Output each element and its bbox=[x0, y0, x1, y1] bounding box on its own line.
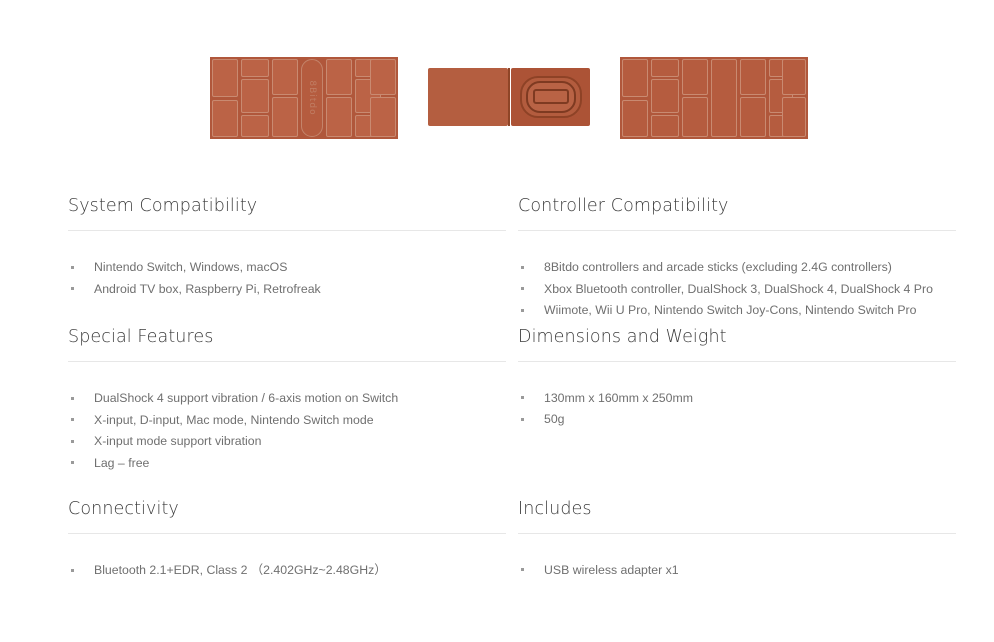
section-list: 8Bitdo controllers and arcade sticks (ex… bbox=[518, 231, 956, 322]
bullet-icon bbox=[71, 266, 74, 269]
section-special-features: Special Features DualShock 4 support vib… bbox=[68, 327, 506, 474]
bullet-icon bbox=[521, 418, 524, 421]
section-title: Connectivity bbox=[68, 499, 506, 534]
pad-key bbox=[272, 97, 298, 137]
pad-key bbox=[782, 59, 806, 95]
pad-key bbox=[241, 59, 269, 77]
list-item: X-input mode support vibration bbox=[68, 431, 506, 453]
list-item-text: X-input, D-input, Mac mode, Nintendo Swi… bbox=[94, 413, 374, 427]
bullet-icon bbox=[71, 440, 74, 443]
adapter-seam bbox=[508, 68, 510, 126]
list-item: Bluetooth 2.1+EDR, Class 2 （2.402GHz~2.4… bbox=[68, 560, 506, 582]
section-title: Controller Compatibility bbox=[518, 196, 956, 231]
list-item: USB wireless adapter x1 bbox=[518, 560, 956, 582]
bullet-icon bbox=[521, 266, 524, 269]
section-list: 130mm x 160mm x 250mm 50g bbox=[518, 362, 956, 431]
spec-column-left: System Compatibility Nintendo Switch, Wi… bbox=[68, 196, 506, 582]
pad-key bbox=[651, 115, 679, 137]
pad-key bbox=[241, 115, 269, 137]
pad-key bbox=[370, 97, 396, 137]
list-item: DualShock 4 support vibration / 6-axis m… bbox=[68, 388, 506, 410]
section-list: Bluetooth 2.1+EDR, Class 2 （2.402GHz~2.4… bbox=[68, 534, 506, 582]
section-list: USB wireless adapter x1 bbox=[518, 534, 956, 582]
section-title: Dimensions and Weight bbox=[518, 327, 956, 362]
list-item: 8Bitdo controllers and arcade sticks (ex… bbox=[518, 257, 956, 279]
pad-key bbox=[241, 79, 269, 113]
list-item-text: 8Bitdo controllers and arcade sticks (ex… bbox=[544, 260, 892, 274]
bullet-icon bbox=[521, 568, 524, 571]
list-item: Xbox Bluetooth controller, DualShock 3, … bbox=[518, 279, 956, 301]
list-item-text: Bluetooth 2.1+EDR, Class 2 （2.402GHz~2.4… bbox=[94, 563, 387, 577]
pad-key bbox=[682, 97, 708, 137]
list-item-text: Android TV box, Raspberry Pi, Retrofreak bbox=[94, 282, 321, 296]
usb-connector-slot bbox=[533, 89, 569, 104]
list-item: X-input, D-input, Mac mode, Nintendo Swi… bbox=[68, 410, 506, 432]
pad-key bbox=[212, 100, 238, 137]
section-title: Includes bbox=[518, 499, 956, 534]
section-controller-compatibility: Controller Compatibility 8Bitdo controll… bbox=[518, 196, 956, 322]
list-item-text: 50g bbox=[544, 412, 565, 426]
pad-key bbox=[651, 59, 679, 77]
bullet-icon bbox=[521, 309, 524, 312]
pad-key bbox=[326, 97, 352, 137]
pad-key bbox=[622, 100, 648, 137]
pad-key bbox=[326, 59, 352, 95]
list-item-text: USB wireless adapter x1 bbox=[544, 563, 679, 577]
spec-column-right: Controller Compatibility 8Bitdo controll… bbox=[518, 196, 956, 581]
pad-key bbox=[370, 59, 396, 95]
bullet-icon bbox=[71, 418, 74, 421]
bullet-icon bbox=[71, 569, 74, 572]
section-title: System Compatibility bbox=[68, 196, 506, 231]
list-item-text: Wiimote, Wii U Pro, Nintendo Switch Joy-… bbox=[544, 303, 916, 317]
list-item: Lag – free bbox=[68, 453, 506, 475]
section-list: Nintendo Switch, Windows, macOS Android … bbox=[68, 231, 506, 300]
list-item-text: Xbox Bluetooth controller, DualShock 3, … bbox=[544, 282, 933, 296]
pad-key bbox=[272, 59, 298, 95]
section-system-compatibility: System Compatibility Nintendo Switch, Wi… bbox=[68, 196, 506, 300]
bullet-icon bbox=[71, 287, 74, 290]
pad-key bbox=[782, 97, 806, 137]
list-item-text: DualShock 4 support vibration / 6-axis m… bbox=[94, 391, 398, 405]
list-item: Android TV box, Raspberry Pi, Retrofreak bbox=[68, 279, 506, 301]
section-dimensions-and-weight: Dimensions and Weight 130mm x 160mm x 25… bbox=[518, 327, 956, 431]
pad-key bbox=[622, 59, 648, 97]
product-image-usb-adapter[interactable] bbox=[428, 68, 590, 126]
list-item: 130mm x 160mm x 250mm bbox=[518, 388, 956, 410]
bullet-icon bbox=[521, 396, 524, 399]
section-connectivity: Connectivity Bluetooth 2.1+EDR, Class 2 … bbox=[68, 499, 506, 582]
pad-key bbox=[212, 59, 238, 97]
pad-key bbox=[711, 59, 737, 137]
pad-key bbox=[682, 59, 708, 95]
pad-key bbox=[740, 59, 766, 95]
pad-key bbox=[740, 97, 766, 137]
list-item: Nintendo Switch, Windows, macOS bbox=[68, 257, 506, 279]
product-image-controller-bottom[interactable] bbox=[620, 57, 808, 139]
bullet-icon bbox=[71, 461, 74, 464]
product-gallery: 8Bitdo bbox=[0, 0, 994, 190]
list-item-text: Nintendo Switch, Windows, macOS bbox=[94, 260, 287, 274]
section-title: Special Features bbox=[68, 327, 506, 362]
controller-logo-plate: 8Bitdo bbox=[301, 59, 323, 137]
list-item: 50g bbox=[518, 409, 956, 431]
product-image-controller-top[interactable]: 8Bitdo bbox=[210, 57, 398, 139]
bullet-icon bbox=[521, 287, 524, 290]
brand-logo-text: 8Bitdo bbox=[307, 80, 317, 115]
section-includes: Includes USB wireless adapter x1 bbox=[518, 499, 956, 582]
list-item: Wiimote, Wii U Pro, Nintendo Switch Joy-… bbox=[518, 300, 956, 322]
pad-key bbox=[651, 79, 679, 113]
section-list: DualShock 4 support vibration / 6-axis m… bbox=[68, 362, 506, 474]
list-item-text: X-input mode support vibration bbox=[94, 434, 261, 448]
list-item-text: Lag – free bbox=[94, 456, 149, 470]
list-item-text: 130mm x 160mm x 250mm bbox=[544, 391, 693, 405]
bullet-icon bbox=[71, 397, 74, 400]
adapter-front-face bbox=[428, 68, 508, 126]
